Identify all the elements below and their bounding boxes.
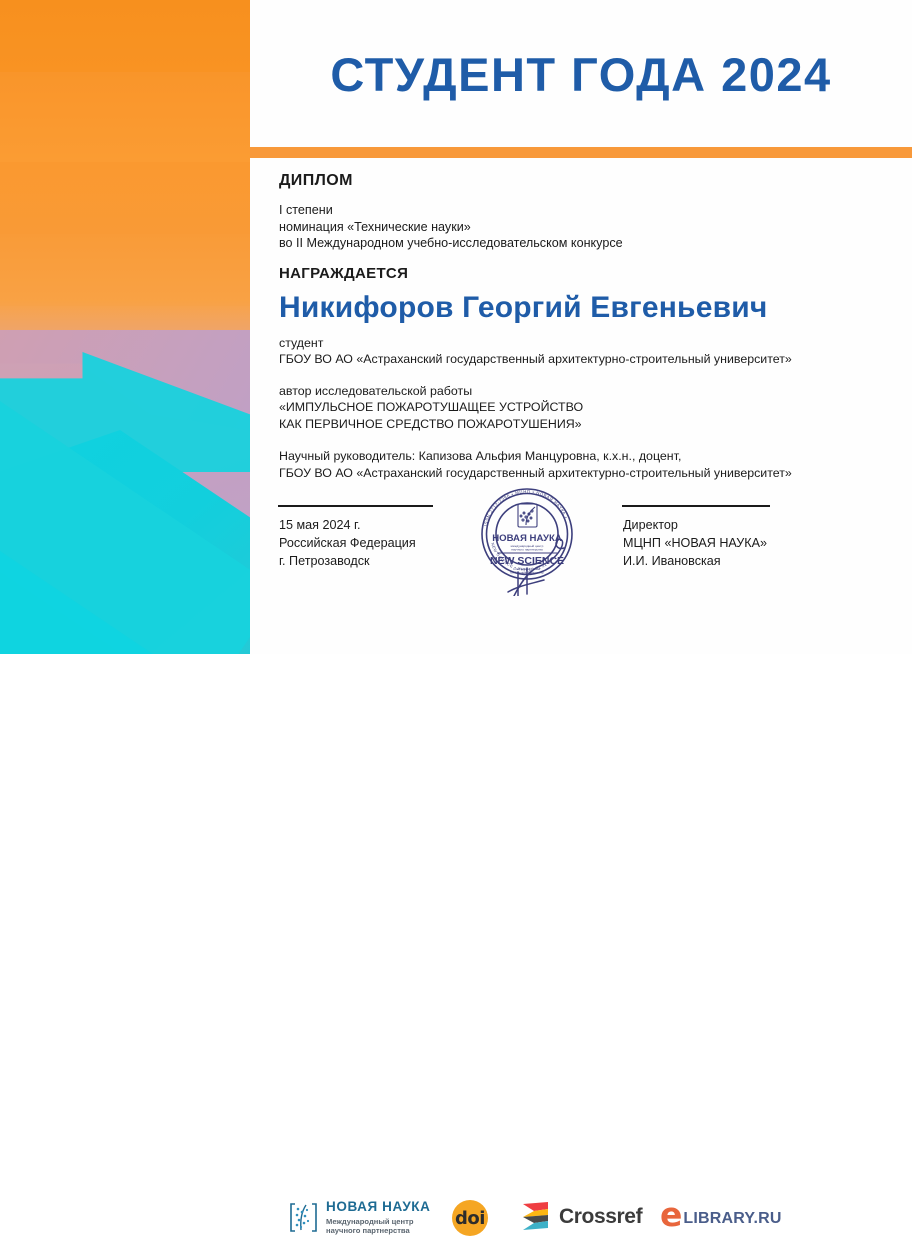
recipient-organization: ГБОУ ВО АО «Астраханский государственный… bbox=[279, 351, 903, 368]
research-work: автор исследовательской работы «ИМПУЛЬСН… bbox=[279, 383, 903, 433]
svg-text:научного партнерства: научного партнерства bbox=[511, 548, 543, 552]
svg-text:NEW SCIENCE: NEW SCIENCE bbox=[490, 555, 564, 567]
degree-line: I степени bbox=[279, 202, 903, 219]
recipient-affiliation: студент ГБОУ ВО АО «Астраханский государ… bbox=[279, 335, 903, 368]
director-role: Директор bbox=[623, 516, 767, 534]
novaya-nauka-logo: НОВАЯ НАУКА Международный центр научного… bbox=[288, 1200, 431, 1236]
scientific-advisor: Научный руководитель: Капизова Альфия Ма… bbox=[279, 448, 903, 481]
nomination-line: номинация «Технические науки» bbox=[279, 219, 903, 236]
recipient-status: студент bbox=[279, 335, 903, 352]
orange-band-1 bbox=[0, 0, 250, 72]
elibrary-e-icon: e bbox=[660, 1202, 682, 1228]
recipient-name: Никифоров Георгий Евгеньевич bbox=[279, 291, 903, 325]
signature-rule-left bbox=[278, 505, 433, 507]
doi-logo: doi bbox=[452, 1200, 488, 1236]
novaya-nauka-mark-icon bbox=[288, 1202, 319, 1233]
crossref-logo: Crossref bbox=[522, 1200, 642, 1233]
director-organization: МЦНП «НОВАЯ НАУКА» bbox=[623, 534, 767, 552]
advisor-line-2: ГБОУ ВО АО «Астраханский государственный… bbox=[279, 465, 903, 482]
decorative-artwork-panel bbox=[0, 0, 250, 654]
orange-band-2 bbox=[0, 72, 250, 162]
diploma-label: ДИПЛОМ bbox=[279, 172, 903, 190]
work-title-line-1: «ИМПУЛЬСНОЕ ПОЖАРОТУШАЩЕЕ УСТРОЙСТВО bbox=[279, 399, 903, 416]
novaya-nauka-subtitle-line-2: научного партнерства bbox=[326, 1226, 431, 1236]
certificate-title: СТУДЕНТ ГОДА 2024 bbox=[250, 47, 912, 102]
contest-line: во II Международном учебно-исследователь… bbox=[279, 235, 903, 252]
novaya-nauka-title: НОВАЯ НАУКА bbox=[326, 1200, 431, 1214]
novaya-nauka-wordmark: НОВАЯ НАУКА Международный центр научного… bbox=[326, 1200, 431, 1236]
novaya-nauka-subtitle-line-1: Международный центр bbox=[326, 1217, 431, 1227]
certificate-body: ДИПЛОМ I степени номинация «Технические … bbox=[279, 172, 903, 481]
issue-country: Российская Федерация bbox=[279, 534, 416, 552]
elibrary-label: LIBRARY.RU bbox=[683, 1210, 781, 1228]
director-name: И.И. Ивановская bbox=[623, 552, 767, 570]
signature-rule-right bbox=[622, 505, 770, 507]
novaya-nauka-subtitle: Международный центр научного партнерства bbox=[326, 1217, 431, 1236]
elibrary-logo: e LIBRARY.RU bbox=[660, 1202, 782, 1228]
footer-logo-row: НОВАЯ НАУКА Международный центр научного… bbox=[0, 596, 912, 654]
director-details: Директор МЦНП «НОВАЯ НАУКА» И.И. Ивановс… bbox=[623, 516, 767, 570]
advisor-line-1: Научный руководитель: Капизова Альфия Ма… bbox=[279, 448, 903, 465]
issue-details: 15 мая 2024 г. Российская Федерация г. П… bbox=[279, 516, 416, 570]
orange-band-4 bbox=[0, 234, 250, 306]
doi-label: doi bbox=[455, 1208, 485, 1229]
work-title-line-2: КАК ПЕРВИЧНОЕ СРЕДСТВО ПОЖАРОТУШЕНИЯ» bbox=[279, 416, 903, 433]
issue-city: г. Петрозаводск bbox=[279, 552, 416, 570]
work-label: автор исследовательской работы bbox=[279, 383, 903, 400]
orange-divider-rule bbox=[250, 147, 912, 158]
svg-text:НОВАЯ НАУКА: НОВАЯ НАУКА bbox=[492, 533, 562, 544]
official-stamp-icon: ISSN 2712-2396 • МЦНП • НОВАЯ НАУКА • NE… bbox=[474, 484, 586, 596]
crossref-mark-icon bbox=[522, 1200, 554, 1233]
award-meta: I степени номинация «Технические науки» … bbox=[279, 202, 903, 252]
orange-band-3 bbox=[0, 162, 250, 234]
issue-date: 15 мая 2024 г. bbox=[279, 516, 416, 534]
awarded-label: НАГРАЖДАЕТСЯ bbox=[279, 265, 903, 282]
certificate-page: СТУДЕНТ ГОДА 2024 ДИПЛОМ I степени номин… bbox=[0, 0, 912, 654]
crossref-label: Crossref bbox=[559, 1205, 642, 1229]
